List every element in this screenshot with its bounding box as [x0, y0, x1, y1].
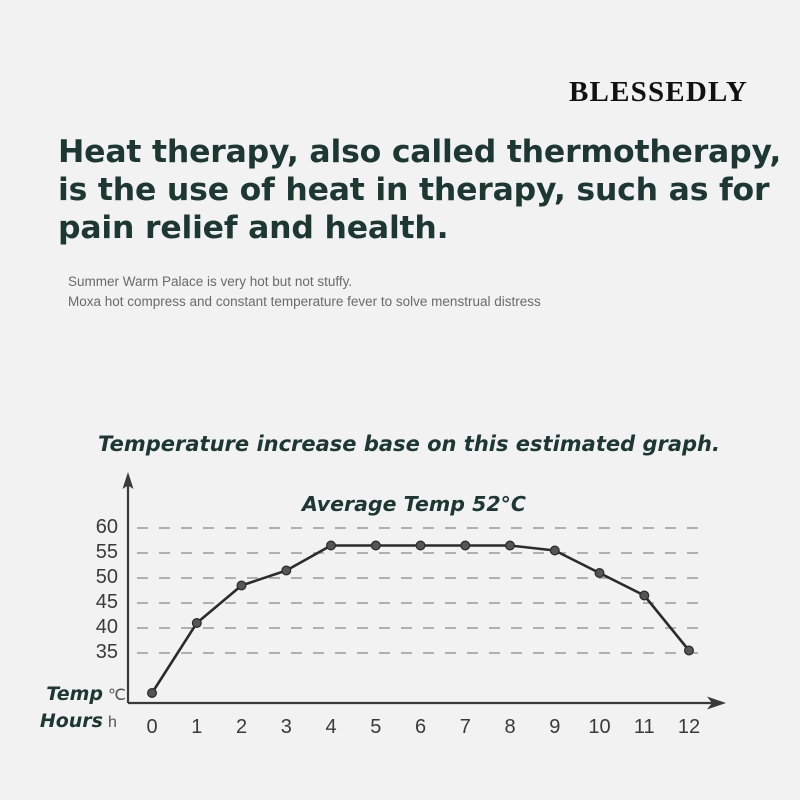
x-axis-unit: h — [108, 714, 132, 732]
y-axis-name: Temp — [46, 683, 103, 705]
data-point — [416, 541, 425, 550]
y-axis-unit: ℃ — [108, 685, 132, 705]
data-point — [595, 569, 604, 578]
x-tick-label-0: 0 — [137, 716, 167, 739]
data-point — [327, 541, 336, 550]
x-tick-label-2: 2 — [227, 716, 257, 739]
x-axis-name-row: Hours h — [24, 710, 132, 737]
x-tick-label-8: 8 — [495, 716, 525, 739]
data-point — [371, 541, 380, 550]
series-temperature-line — [152, 546, 689, 694]
y-tick-label-35: 35 — [82, 641, 118, 664]
data-point — [640, 591, 649, 600]
x-tick-label-11: 11 — [629, 716, 659, 739]
x-tick-label-6: 6 — [406, 716, 436, 739]
data-point — [192, 619, 201, 628]
y-axis-name-row: Temp ℃ — [24, 683, 132, 710]
x-tick-label-5: 5 — [361, 716, 391, 739]
y-tick-label-50: 50 — [82, 566, 118, 589]
data-point — [685, 646, 694, 655]
x-tick-label-1: 1 — [182, 716, 212, 739]
data-point — [461, 541, 470, 550]
temperature-chart: Temperature increase base on this estima… — [0, 0, 800, 800]
data-point — [282, 566, 291, 575]
y-tick-label-40: 40 — [82, 616, 118, 639]
x-tick-label-12: 12 — [674, 716, 704, 739]
data-point — [506, 541, 515, 550]
chart-series-markers — [148, 541, 694, 697]
y-tick-label-45: 45 — [82, 591, 118, 614]
x-axis-name: Hours — [40, 710, 103, 732]
data-point — [550, 546, 559, 555]
y-tick-label-60: 60 — [82, 516, 118, 539]
chart-plot-area — [0, 0, 800, 800]
x-tick-label-9: 9 — [540, 716, 570, 739]
x-tick-label-3: 3 — [271, 716, 301, 739]
axis-name-block: Temp ℃ Hours h — [24, 683, 132, 737]
x-tick-label-4: 4 — [316, 716, 346, 739]
data-point — [237, 581, 246, 590]
x-tick-label-10: 10 — [585, 716, 615, 739]
y-tick-label-55: 55 — [82, 541, 118, 564]
data-point — [148, 689, 157, 698]
x-tick-label-7: 7 — [450, 716, 480, 739]
chart-series-line — [152, 546, 689, 694]
